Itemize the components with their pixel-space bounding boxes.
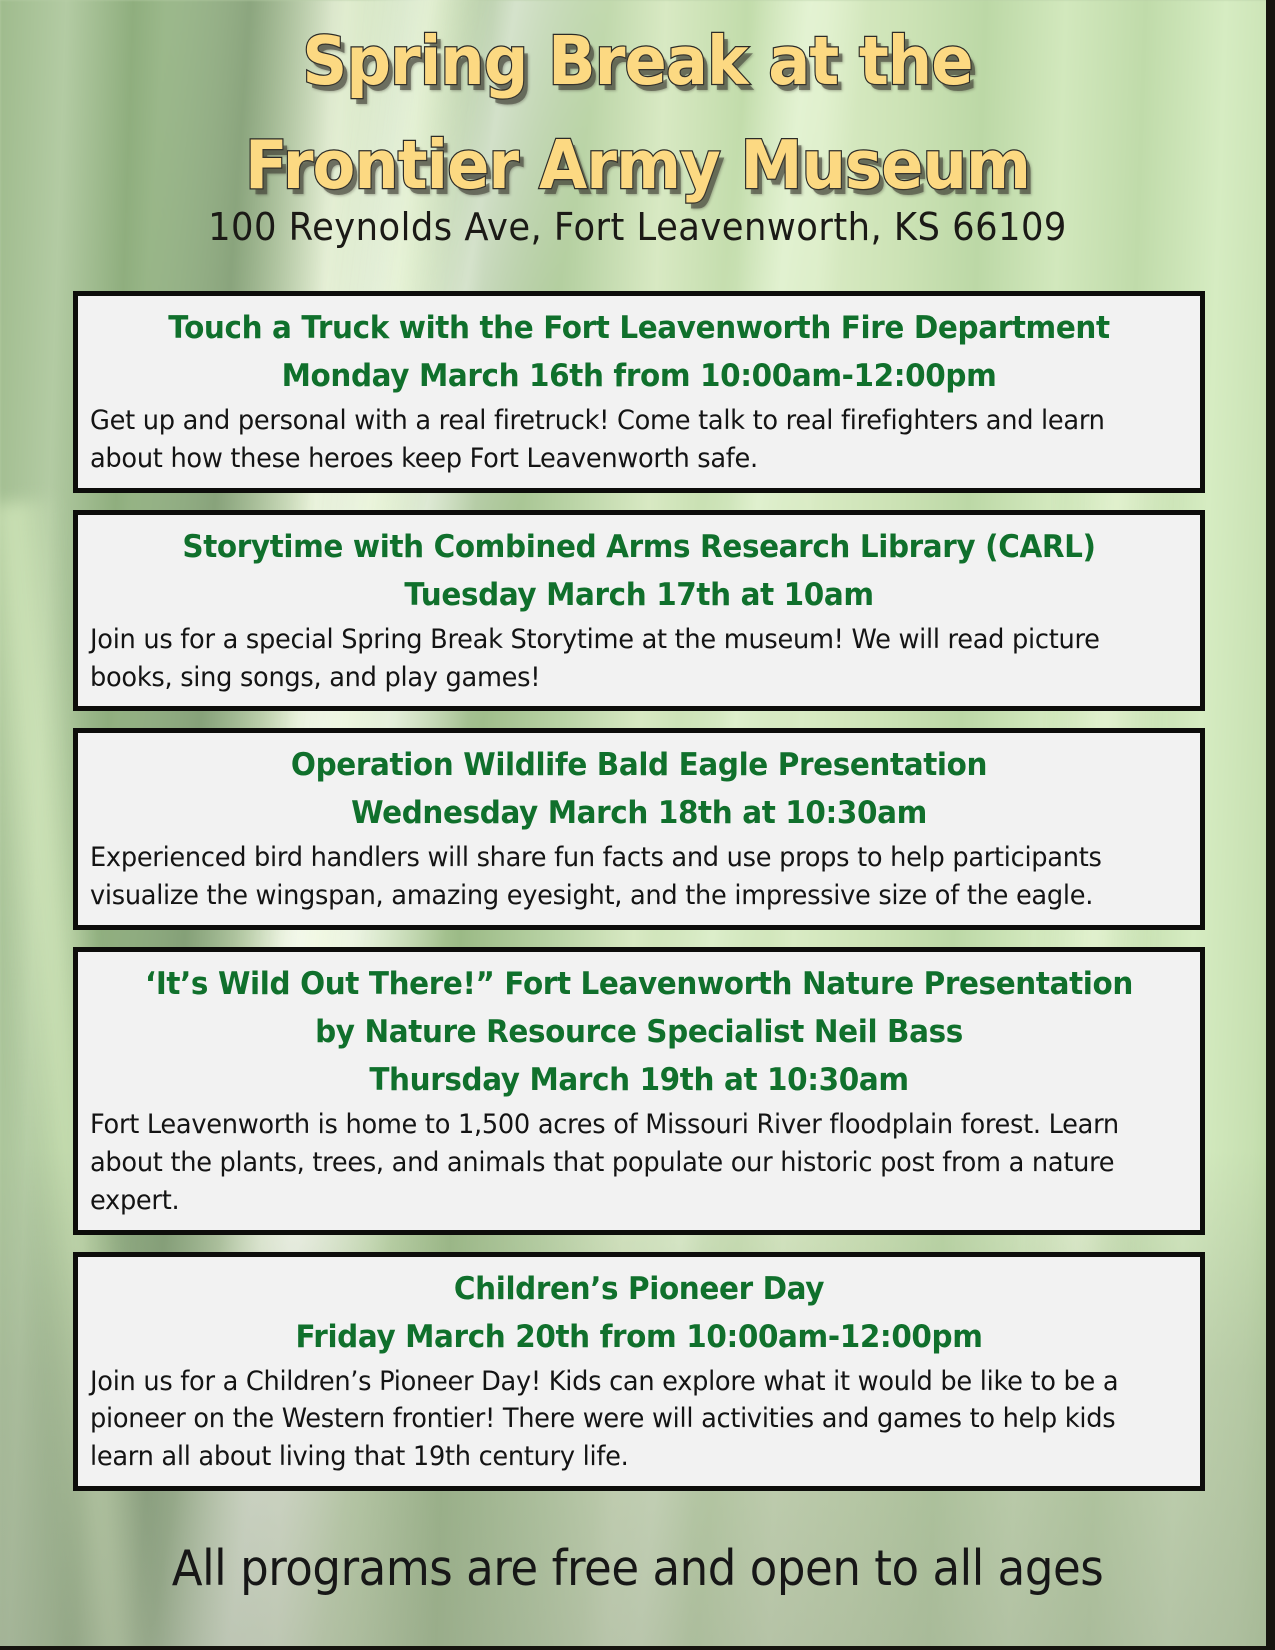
event-title: Touch a Truck with the Fort Leavenworth … <box>117 304 1160 352</box>
event-card-list: Touch a Truck with the Fort Leavenworth … <box>73 291 1205 1508</box>
event-datetime: Wednesday March 18th at 10:30am <box>117 789 1160 837</box>
title-line-2: Frontier Army Museum <box>45 114 1231 218</box>
event-description: Experienced bird handlers will share fun… <box>90 839 1133 915</box>
event-description: Join us for a Children’s Pioneer Day! Ki… <box>90 1363 1133 1476</box>
event-title: Children’s Pioneer Day <box>117 1265 1160 1313</box>
museum-address: 100 Reynolds Ave, Fort Leavenworth, KS 6… <box>45 205 1231 249</box>
event-title: Storytime with Combined Arms Research Li… <box>117 523 1160 571</box>
event-description: Fort Leavenworth is home to 1,500 acres … <box>90 1106 1133 1219</box>
poster-content: Spring Break at the Frontier Army Museum… <box>0 0 1275 1650</box>
event-card: Children’s Pioneer Day Friday March 20th… <box>73 1252 1205 1491</box>
footer-note: All programs are free and open to all ag… <box>51 1540 1224 1597</box>
event-datetime: Friday March 20th from 10:00am-12:00pm <box>117 1313 1160 1361</box>
event-title-line2: by Nature Resource Specialist Neil Bass <box>117 1008 1160 1056</box>
title-line-1: Spring Break at the <box>45 10 1231 114</box>
event-datetime: Tuesday March 17th at 10am <box>117 571 1160 619</box>
event-description: Join us for a special Spring Break Story… <box>90 621 1133 697</box>
event-datetime: Thursday March 19th at 10:30am <box>117 1056 1160 1104</box>
event-card: Touch a Truck with the Fort Leavenworth … <box>73 291 1205 493</box>
event-description: Get up and personal with a real firetruc… <box>90 402 1133 478</box>
page-edge-bottom <box>0 1646 1275 1650</box>
event-title: Operation Wildlife Bald Eagle Presentati… <box>117 741 1160 789</box>
event-card: ‘It’s Wild Out There!” Fort Leavenworth … <box>73 947 1205 1235</box>
event-datetime: Monday March 16th from 10:00am-12:00pm <box>117 352 1160 400</box>
poster-title: Spring Break at the Frontier Army Museum <box>0 10 1275 218</box>
event-title: ‘It’s Wild Out There!” Fort Leavenworth … <box>117 960 1160 1008</box>
event-card: Operation Wildlife Bald Eagle Presentati… <box>73 728 1205 930</box>
event-card: Storytime with Combined Arms Research Li… <box>73 510 1205 712</box>
poster-page: Spring Break at the Frontier Army Museum… <box>0 0 1275 1650</box>
page-edge-right <box>1266 0 1275 1650</box>
